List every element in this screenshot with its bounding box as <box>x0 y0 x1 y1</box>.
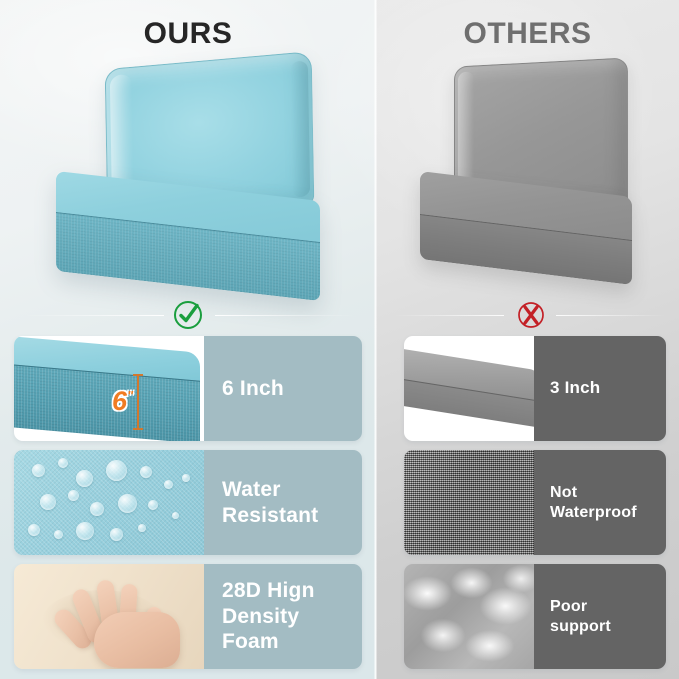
hand-pressing-foam-image <box>14 564 204 669</box>
ours-feature-label-thickness: 6 Inch <box>204 336 362 441</box>
others-feature-row-support: Poorsupport <box>404 564 666 669</box>
cross-badge-icon <box>513 297 549 333</box>
measurement-value: 6 <box>112 386 127 416</box>
ours-feature-label-water: WaterResistant <box>204 450 362 555</box>
others-feature-label-support: Poorsupport <box>534 564 666 669</box>
badge-divider-line-left <box>394 315 504 316</box>
check-badge-icon <box>170 297 206 333</box>
ours-badge-band <box>0 295 376 335</box>
comparison-infographic: OURS OTHERS <box>0 0 679 679</box>
white-fiber-fill-image <box>404 564 534 669</box>
thick-cushion-edge-image: 6" <box>14 336 204 441</box>
ours-feature-row-thickness: 6" 6 Inch <box>14 336 362 441</box>
ours-feature-row-water: WaterResistant <box>14 450 362 555</box>
measurement-arrow <box>137 374 139 430</box>
others-feature-label-water: NotWaterproof <box>534 450 666 555</box>
others-badge-band <box>376 295 679 335</box>
water-droplets-image <box>14 450 204 555</box>
others-product-image <box>412 58 640 273</box>
badge-divider-line-left <box>24 315 164 316</box>
ours-title: OURS <box>0 17 376 51</box>
feature-rows: 6" 6 Inch <box>0 333 679 679</box>
ours-feature-label-foam: 28D HignDensity Foam <box>204 564 362 669</box>
thin-cushion-edge-image <box>404 336 534 441</box>
badge-divider-line-right <box>215 315 355 316</box>
ours-feature-row-foam: 28D HignDensity Foam <box>14 564 362 669</box>
others-feature-label-thickness: 3 Inch <box>534 336 666 441</box>
hand-graphic <box>50 576 182 668</box>
measurement-label: 6" <box>112 386 133 417</box>
dark-mesh-fabric-image <box>404 450 534 555</box>
badge-divider-line-right <box>556 315 666 316</box>
measurement-unit: " <box>127 388 133 403</box>
others-feature-row-water: NotWaterproof <box>404 450 666 555</box>
ours-product-image <box>44 58 334 288</box>
others-feature-row-thickness: 3 Inch <box>404 336 666 441</box>
others-title: OTHERS <box>376 17 679 51</box>
